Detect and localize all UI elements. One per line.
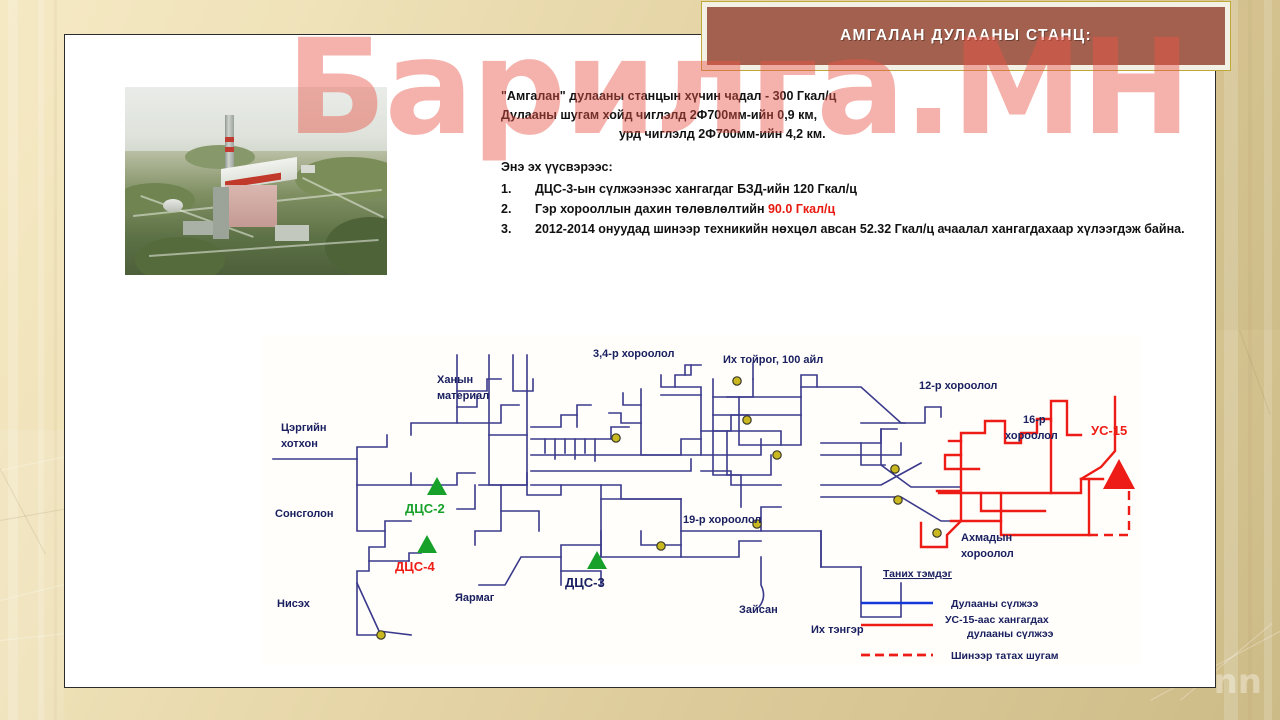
description-text: "Амгалан" дулааны станцын хүчин чадал - …	[501, 87, 1191, 240]
map-label-nisekh: Нисэх	[277, 598, 311, 610]
map-label-yarmag: Яармаг	[455, 592, 495, 604]
map-label-zaisan: Зайсан	[739, 604, 778, 616]
map-label-dts4: ДЦС-4	[395, 559, 435, 574]
map-label-hanyn-material: Ханын	[437, 374, 473, 386]
list-text: ДЦС-3-ын сүлжээнээс хангагдаг БЗД-ийн 12…	[535, 180, 1191, 198]
map-label-tsergiin-hothon-2: хотхон	[281, 438, 318, 450]
map-label-district-19: 19-р хороолол	[683, 514, 761, 526]
map-label-hanyn-material-2: материал	[437, 390, 489, 402]
source-list: 1. ДЦС-3-ын сүлжээнээс хангагдаг БЗД-ийн…	[501, 180, 1191, 238]
title-banner: АМГАЛАН ДУЛААНЫ СТАНЦ:	[701, 1, 1231, 71]
capacity-line: "Амгалан" дулааны станцын хүчин чадал - …	[501, 87, 1191, 106]
list-item: 3. 2012-2014 онуудад шинээр техникийн нө…	[501, 220, 1191, 238]
map-label-ikh-toirog: Их тойрог, 100 айл	[723, 354, 823, 366]
north-pipe-line: Дулааны шугам хойд чиглэлд 2Ф700мм-ийн 0…	[501, 106, 1191, 125]
map-label-district-16: 16-р	[1023, 414, 1046, 426]
legend-label-existing: Дулааны сүлжээ	[951, 598, 1038, 610]
south-pipe-line: урд чиглэлд 2Ф700мм-ийн 4,2 км.	[501, 125, 1191, 144]
network-diagram: Ханын материал Цэргийн хотхон Сонсголон …	[261, 335, 1141, 665]
legend-label-new: Шинээр татах шугам	[951, 650, 1059, 662]
list-number: 2.	[501, 200, 535, 218]
map-label-ahmadyn: Ахмадын	[961, 532, 1012, 544]
map-label-tsergiin-hothon: Цэргийн	[281, 422, 327, 434]
legend-label-us15: УС-15-аас хангагдах	[945, 614, 1049, 626]
map-label-ikh-tenger: Их тэнгэр	[811, 624, 864, 636]
plant-photo	[125, 87, 387, 275]
list-number: 3.	[501, 220, 535, 238]
map-label-district-12: 12-р хороолол	[919, 380, 997, 392]
legend-title: Таних тэмдэг	[883, 568, 953, 580]
list-text: Гэр хорооллын дахин төлөвлөлтийн 90.0 Гк…	[535, 200, 1191, 218]
map-label-dts3: ДЦС-3	[565, 575, 605, 590]
highlight-value: 90.0 Гкал/ц	[768, 202, 835, 216]
map-label-songolon: Сонсголон	[275, 508, 334, 520]
map-label-district-34: 3,4-р хороолол	[593, 348, 674, 360]
map-label-district-16-2: хороолол	[1005, 430, 1058, 442]
map-label-dts2: ДЦС-2	[405, 501, 445, 516]
page-title: АМГАЛАН ДУЛААНЫ СТАНЦ:	[840, 27, 1092, 45]
heat-network-map: Ханын материал Цэргийн хотхон Сонсголон …	[261, 335, 1141, 665]
legend-label-us15-2: дулааны сүлжээ	[967, 628, 1054, 640]
list-text-plain: Гэр хорооллын дахин төлөвлөлтийн	[535, 202, 768, 216]
slide-panel: АМГАЛАН ДУЛААНЫ СТАНЦ: "Амгалан" дулааны…	[64, 34, 1216, 688]
source-intro: Энэ эх үүсвэрээс:	[501, 158, 1191, 177]
list-item: 1. ДЦС-3-ын сүлжээнээс хангагдаг БЗД-ийн…	[501, 180, 1191, 198]
list-number: 1.	[501, 180, 535, 198]
list-item: 2. Гэр хорооллын дахин төлөвлөлтийн 90.0…	[501, 200, 1191, 218]
map-label-us15: УС-15	[1091, 423, 1127, 438]
list-text: 2012-2014 онуудад шинээр техникийн нөхцө…	[535, 220, 1191, 238]
map-label-ahmadyn-2: хороолол	[961, 548, 1014, 560]
